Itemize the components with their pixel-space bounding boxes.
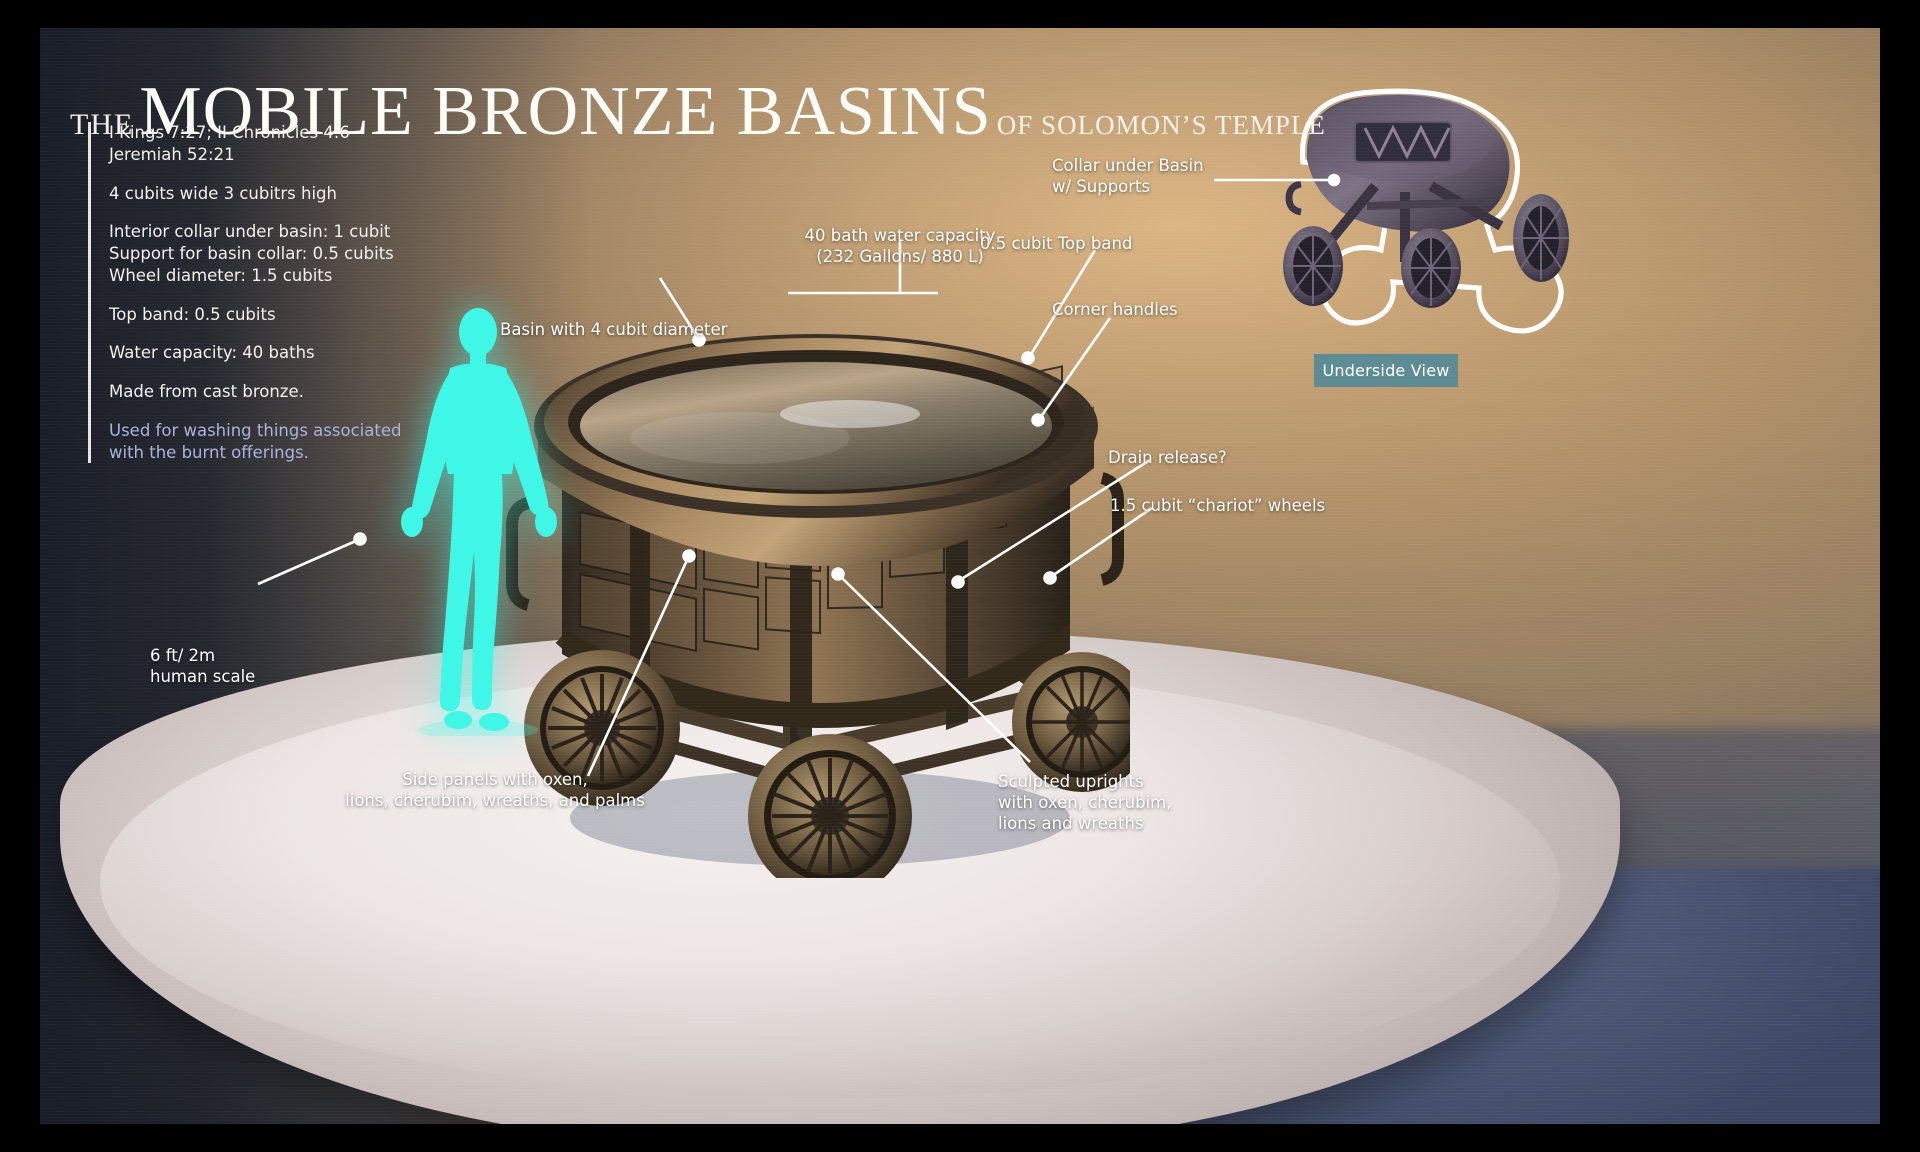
info-details: Interior collar under basin: 1 cubit Sup… [109, 221, 418, 286]
infographic-canvas: THE MOBILE BRONZE BASINS OF SOLOMON’S TE… [0, 0, 1920, 1152]
callout-collar-under-basin: Collar under Basin w/ Supports [1052, 156, 1204, 198]
callout-sculpted-uprights: Sculpted uprights with oxen, cherubim, l… [998, 772, 1172, 834]
info-panel: I Kings 7:27; II Chronicles 4:6 Jeremiah… [88, 122, 418, 463]
callout-chariot-wheels: 1.5 cubit “chariot” wheels [1110, 496, 1325, 517]
info-usage-note: Used for washing things associated with … [109, 420, 418, 464]
callout-side-panels: Side panels with oxen, lions, cherubim, … [340, 770, 650, 812]
info-top-band: Top band: 0.5 cubits [109, 304, 418, 326]
underside-view-button[interactable]: Underside View [1314, 354, 1458, 387]
callout-basin-diameter: Basin with 4 cubit diameter [500, 320, 727, 341]
callout-human-scale: 6 ft/ 2m human scale [150, 646, 255, 688]
callout-corner-handles: Corner handles [1052, 300, 1178, 321]
artwork-area: THE MOBILE BRONZE BASINS OF SOLOMON’S TE… [40, 28, 1880, 1124]
callout-top-band: 0.5 cubit Top band [980, 234, 1132, 255]
info-material: Made from cast bronze. [109, 381, 418, 403]
info-scripture-refs: I Kings 7:27; II Chronicles 4:6 Jeremiah… [109, 122, 418, 166]
title-subtitle: OF SOLOMON’S TEMPLE [997, 110, 1326, 140]
info-water-capacity: Water capacity: 40 baths [109, 342, 418, 364]
callout-drain-release: Drain release? [1108, 448, 1227, 469]
info-dimensions: 4 cubits wide 3 cubitrs high [109, 183, 418, 205]
